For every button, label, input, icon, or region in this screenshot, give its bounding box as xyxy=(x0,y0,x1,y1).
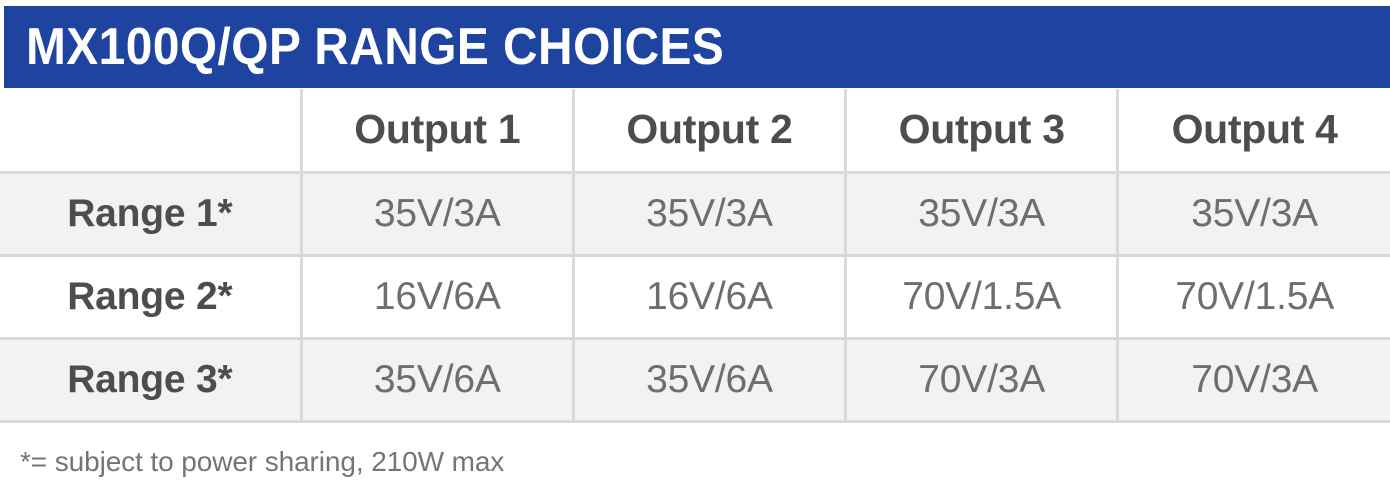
column-header-output-1: Output 1 xyxy=(301,89,573,172)
range-choices-sheet: MX100Q/QP RANGE CHOICES Output 1 Output … xyxy=(0,0,1390,502)
range-choices-table: Output 1 Output 2 Output 3 Output 4 Rang… xyxy=(0,89,1390,423)
cell-range-3-output-4: 70V/3A xyxy=(1118,338,1390,421)
footnote-text: *= subject to power sharing, 210W max xyxy=(20,446,504,478)
cell-range-1-output-2: 35V/3A xyxy=(573,172,845,255)
row-label-range-2: Range 2* xyxy=(0,255,301,338)
cell-range-2-output-2: 16V/6A xyxy=(573,255,845,338)
table-row: Range 1* 35V/3A 35V/3A 35V/3A 35V/3A xyxy=(0,172,1390,255)
row-label-range-1: Range 1* xyxy=(0,172,301,255)
column-header-output-4: Output 4 xyxy=(1118,89,1390,172)
cell-range-1-output-3: 35V/3A xyxy=(846,172,1118,255)
table-header-row: Output 1 Output 2 Output 3 Output 4 xyxy=(0,89,1390,172)
cell-range-2-output-4: 70V/1.5A xyxy=(1118,255,1390,338)
column-header-output-2: Output 2 xyxy=(573,89,845,172)
table-corner-cell xyxy=(0,89,301,172)
cell-range-3-output-2: 35V/6A xyxy=(573,338,845,421)
table-row: Range 2* 16V/6A 16V/6A 70V/1.5A 70V/1.5A xyxy=(0,255,1390,338)
cell-range-3-output-3: 70V/3A xyxy=(846,338,1118,421)
page-title: MX100Q/QP RANGE CHOICES xyxy=(26,21,724,73)
cell-range-2-output-1: 16V/6A xyxy=(301,255,573,338)
cell-range-1-output-1: 35V/3A xyxy=(301,172,573,255)
cell-range-2-output-3: 70V/1.5A xyxy=(846,255,1118,338)
table-body: Range 1* 35V/3A 35V/3A 35V/3A 35V/3A Ran… xyxy=(0,172,1390,421)
table-header: Output 1 Output 2 Output 3 Output 4 xyxy=(0,89,1390,172)
cell-range-1-output-4: 35V/3A xyxy=(1118,172,1390,255)
cell-range-3-output-1: 35V/6A xyxy=(301,338,573,421)
table-row: Range 3* 35V/6A 35V/6A 70V/3A 70V/3A xyxy=(0,338,1390,421)
column-header-output-3: Output 3 xyxy=(846,89,1118,172)
title-banner: MX100Q/QP RANGE CHOICES xyxy=(4,6,1390,88)
row-label-range-3: Range 3* xyxy=(0,338,301,421)
